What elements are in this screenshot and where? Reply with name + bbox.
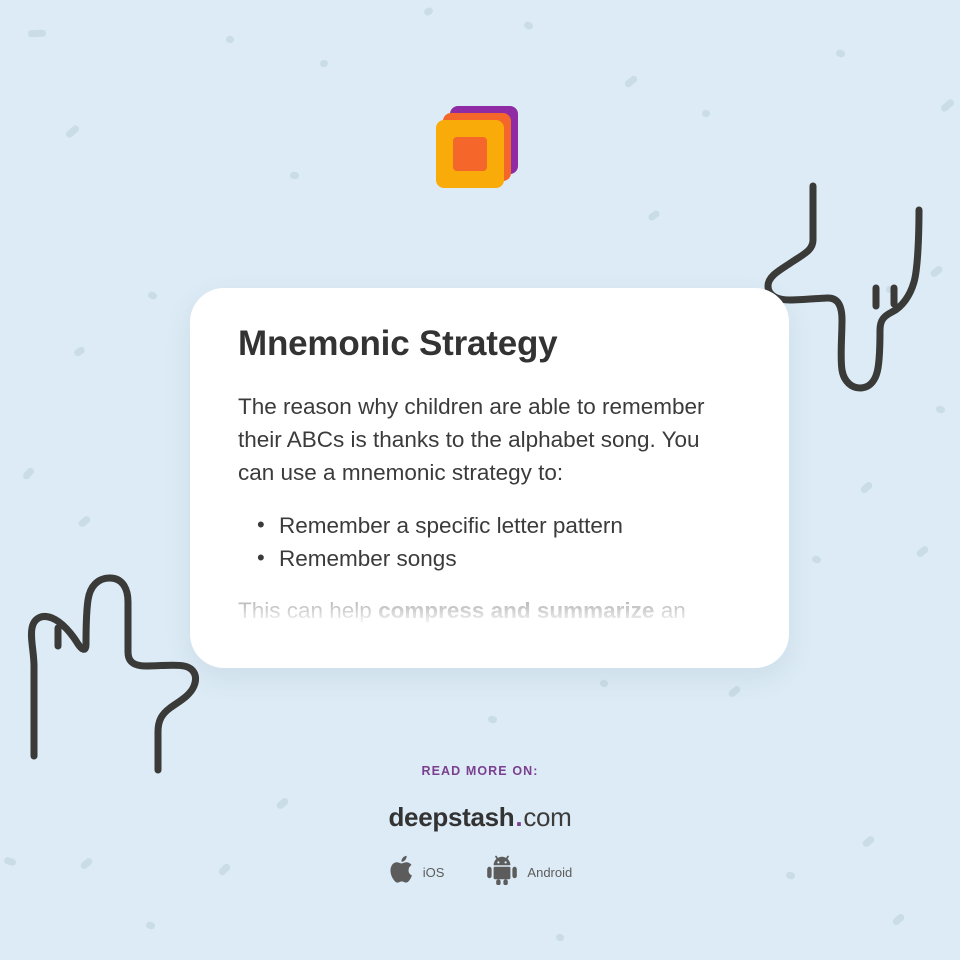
confetti-dash xyxy=(647,209,661,222)
pointing-hand-doodle-left xyxy=(18,556,203,796)
confetti-dash xyxy=(811,555,822,564)
card-fading-paragraph: This can help compress and summarize an xyxy=(238,594,741,627)
brand-tld: com xyxy=(523,802,571,832)
confetti-dash xyxy=(835,49,846,58)
confetti-dash xyxy=(701,109,710,118)
read-more-label: READ MORE ON: xyxy=(0,764,960,778)
app-store-badge-ios[interactable]: iOS xyxy=(388,854,445,890)
brand-dot: . xyxy=(514,802,523,832)
confetti-dash xyxy=(145,921,155,930)
confetti-dash xyxy=(423,6,434,17)
confetti-dash xyxy=(727,685,741,699)
confetti-dash xyxy=(225,35,235,44)
confetti-dash xyxy=(319,59,329,68)
apple-icon xyxy=(388,854,414,890)
confetti-dash xyxy=(147,291,158,301)
deepstash-logo xyxy=(425,100,521,196)
fading-emphasis-text: compress and summarize xyxy=(378,598,654,623)
card-bullet-list: Remember a specific letter pattern Remem… xyxy=(238,509,741,575)
confetti-dash xyxy=(523,20,534,30)
confetti-dash xyxy=(935,405,946,414)
confetti-dash xyxy=(22,466,36,480)
app-store-badge-android[interactable]: Android xyxy=(486,854,572,890)
badge-label-android: Android xyxy=(527,865,572,880)
confetti-dash xyxy=(73,345,86,357)
confetti-dash xyxy=(65,124,81,139)
confetti-dash xyxy=(859,481,873,495)
idea-card[interactable]: Mnemonic Strategy The reason why childre… xyxy=(190,288,789,668)
list-item: Remember a specific letter pattern xyxy=(279,509,741,542)
badge-label-ios: iOS xyxy=(423,865,445,880)
confetti-dash xyxy=(77,515,91,529)
confetti-dash xyxy=(555,933,565,942)
page-footer: READ MORE ON: deepstash.com iOS xyxy=(0,764,960,890)
confetti-dash xyxy=(623,74,638,88)
confetti-dash xyxy=(599,679,608,688)
fading-trail-text: an xyxy=(654,598,685,623)
confetti-dash xyxy=(289,171,299,179)
android-icon xyxy=(486,854,518,890)
brand-wordmark[interactable]: deepstash.com xyxy=(0,802,960,833)
confetti-dash xyxy=(915,545,929,559)
confetti-dash xyxy=(891,913,905,927)
list-item: Remember songs xyxy=(279,542,741,575)
card-title: Mnemonic Strategy xyxy=(238,324,741,363)
confetti-dash xyxy=(487,715,497,724)
card-paragraph: The reason why children are able to reme… xyxy=(238,390,741,489)
brand-name: deepstash xyxy=(388,802,514,832)
confetti-dash xyxy=(940,98,956,113)
store-badges: iOS xyxy=(0,854,960,890)
confetti-dash xyxy=(28,30,46,38)
fading-lead-text: This can help xyxy=(238,598,378,623)
